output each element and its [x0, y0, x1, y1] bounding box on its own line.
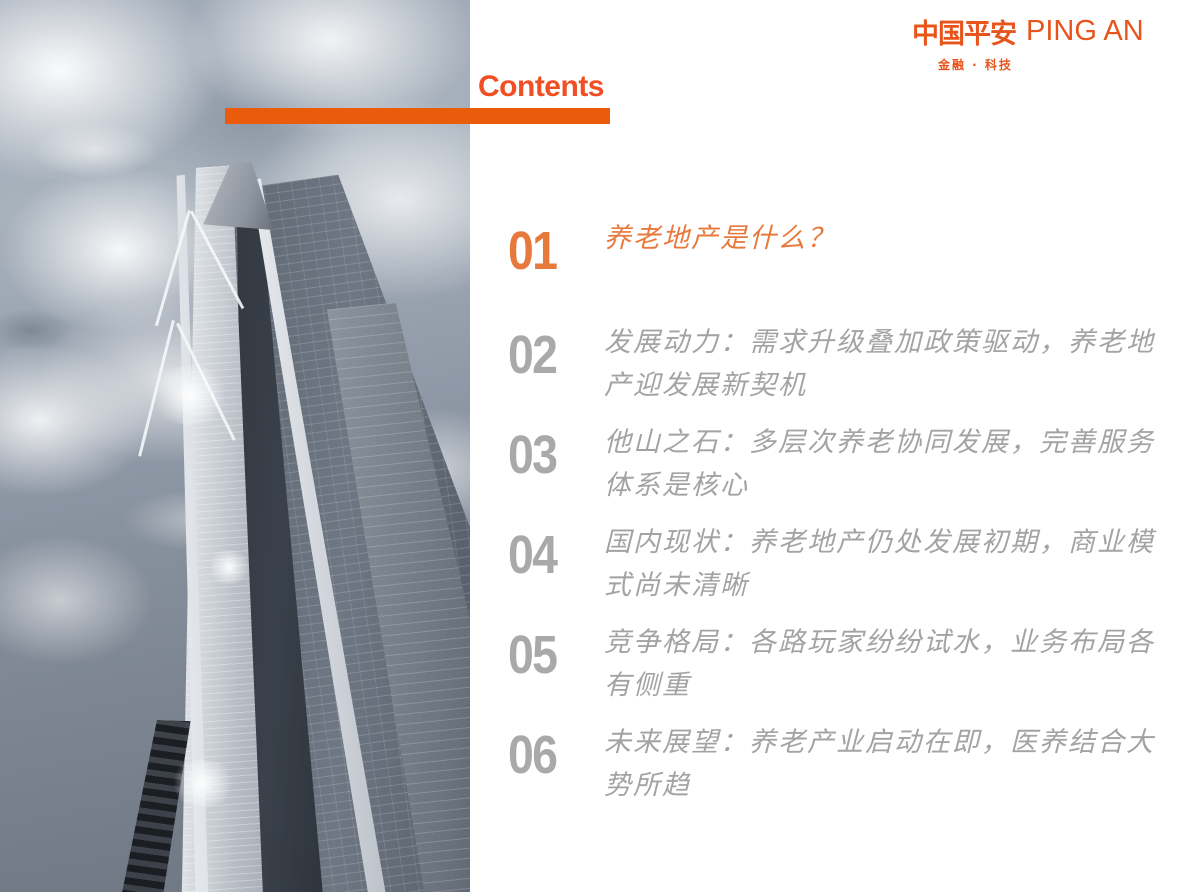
- toc-item-number: 05: [508, 616, 591, 683]
- page-title: Contents: [478, 70, 604, 104]
- toc-item-number: 01: [508, 212, 591, 279]
- skyscraper-illustration: [0, 160, 470, 892]
- toc-item-label: 他山之石：多层次养老协同发展，完善服务体系是核心: [604, 416, 1168, 507]
- sun-glint: [150, 365, 230, 425]
- toc-item-04[interactable]: 04国内现状：养老地产仍处发展初期，商业模式尚未清晰: [508, 516, 1168, 612]
- toc-item-01[interactable]: 01养老地产是什么？: [508, 212, 1168, 312]
- toc-item-03[interactable]: 03他山之石：多层次养老协同发展，完善服务体系是核心: [508, 416, 1168, 512]
- logo-wordmark-row: 中国平安 PING AN: [912, 12, 1162, 51]
- logo-subtitle: 金融 · 科技: [938, 56, 1162, 73]
- logo-english-text: PING AN: [1026, 15, 1144, 48]
- table-of-contents: 01养老地产是什么？02发展动力：需求升级叠加政策驱动，养老地产迎发展新契机03…: [508, 212, 1168, 816]
- toc-item-label: 发展动力：需求升级叠加政策驱动，养老地产迎发展新契机: [604, 316, 1168, 407]
- toc-item-number: 02: [508, 316, 591, 383]
- toc-item-label: 养老地产是什么？: [604, 212, 1168, 261]
- sun-glint: [168, 760, 238, 806]
- logo-chinese-text: 中国平安: [912, 12, 1016, 51]
- pingan-logo: 中国平安 PING AN 金融 · 科技: [912, 12, 1162, 73]
- toc-item-label: 竞争格局：各路玩家纷纷试水，业务布局各有侧重: [604, 616, 1168, 707]
- toc-item-06[interactable]: 06未来展望：养老产业启动在即，医养结合大势所趋: [508, 716, 1168, 812]
- sun-glint: [206, 550, 252, 584]
- toc-item-label: 未来展望：养老产业启动在即，医养结合大势所趋: [604, 716, 1168, 807]
- toc-item-label: 国内现状：养老地产仍处发展初期，商业模式尚未清晰: [604, 516, 1168, 607]
- title-underline-bar: [225, 108, 610, 124]
- toc-item-number: 06: [508, 716, 591, 783]
- toc-item-05[interactable]: 05竞争格局：各路玩家纷纷试水，业务布局各有侧重: [508, 616, 1168, 712]
- toc-item-number: 04: [508, 516, 591, 583]
- toc-item-number: 03: [508, 416, 591, 483]
- cover-photo: [0, 0, 470, 892]
- toc-item-02[interactable]: 02发展动力：需求升级叠加政策驱动，养老地产迎发展新契机: [508, 316, 1168, 412]
